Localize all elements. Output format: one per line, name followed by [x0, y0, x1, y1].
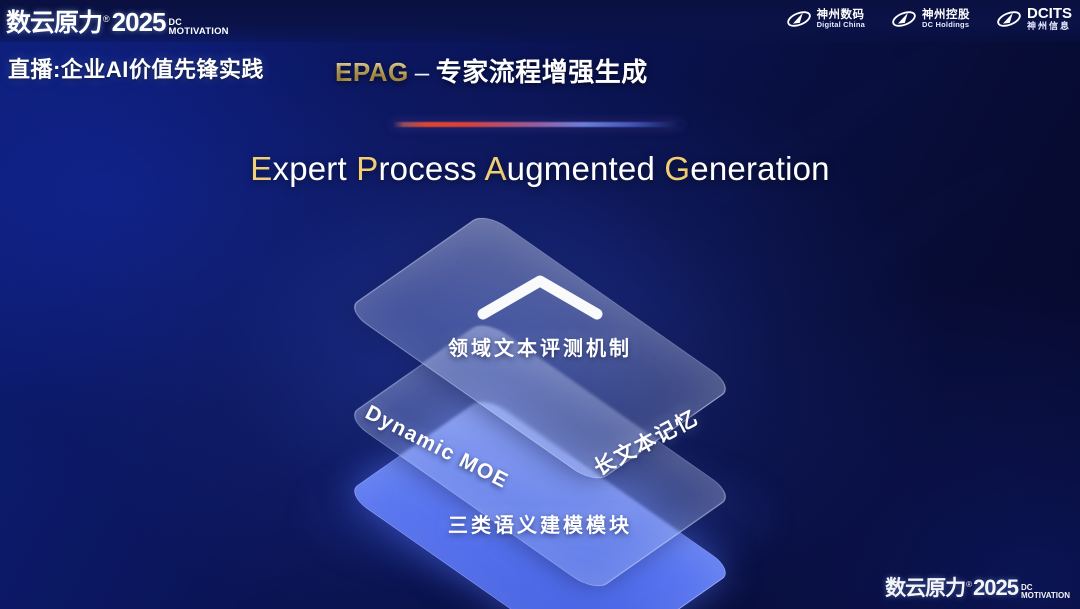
word-expert: Expert [250, 150, 347, 187]
initial-letter: G [664, 150, 690, 187]
watermark-name-cn: 数云原力 [885, 572, 965, 602]
word-rest: xpert [273, 150, 347, 187]
word-rest: eneration [690, 150, 829, 187]
brand-motivation-text: MOTIVATION [169, 27, 229, 36]
registered-mark: ® [966, 580, 972, 589]
gradient-divider [392, 122, 682, 127]
initial-letter: E [250, 150, 272, 187]
word-rest: ugmented [507, 150, 655, 187]
logo-name-en: DCITS [1027, 6, 1072, 22]
logo-digital-china: 神州数码 Digital China [786, 8, 865, 30]
logo-text: 神州控股 DC Holdings [922, 9, 970, 29]
watermark-motivation-text: MOTIVATION [1021, 592, 1070, 600]
galaxy-swirl-icon [891, 8, 917, 30]
logo-text: 神州数码 Digital China [817, 9, 865, 29]
initial-letter: P [356, 150, 378, 187]
brand-name-cn: 数云原力 [6, 3, 102, 39]
logo-text: DCITS 神州信息 [1027, 6, 1072, 31]
live-stream-title: 直播:企业AI价值先锋实践 [8, 52, 264, 84]
logo-dcits: DCITS 神州信息 [996, 6, 1072, 31]
english-title: Expert Process Augmented Generation [0, 150, 1080, 188]
stack-label-bottom: 三类语义建模模块 [0, 509, 1080, 538]
header-bar: 数云原力 ® 2025 DC MOTIVATION 神州数码 Digital C… [0, 0, 1080, 42]
brand-dc-motivation: DC MOTIVATION [169, 18, 229, 36]
brand-watermark-bottom-right: 数云原力 ® 2025 DC MOTIVATION [885, 572, 1070, 605]
word-generation: Generation [664, 150, 829, 187]
word-process: Process [356, 150, 477, 187]
word-rest: rocess [378, 150, 476, 187]
partner-logos: 神州数码 Digital China 神州控股 DC Holdings [786, 6, 1072, 31]
logo-name-cn: 神州信息 [1027, 22, 1072, 31]
slide-canvas: 数云原力 ® 2025 DC MOTIVATION 神州数码 Digital C… [0, 0, 1080, 609]
brand-logo-top-left: 数云原力 ® 2025 DC MOTIVATION [6, 3, 229, 42]
logo-name-en: Digital China [817, 21, 865, 29]
logo-dc-holdings: 神州控股 DC Holdings [891, 8, 970, 30]
logo-name-cn: 神州控股 [922, 9, 970, 21]
initial-letter: A [484, 150, 506, 187]
logo-name-en: DC Holdings [922, 21, 970, 29]
headline-chinese: 专家流程增强生成 [436, 57, 648, 87]
headline-dash: – [415, 57, 430, 87]
registered-mark: ® [103, 14, 110, 24]
watermark-year: 2025 [973, 575, 1018, 601]
chevron-up-icon [475, 272, 605, 327]
galaxy-swirl-icon [786, 8, 812, 30]
slide-headline: EPAG–专家流程增强生成 [335, 52, 648, 89]
word-augmented: Augmented [484, 150, 655, 187]
galaxy-swirl-icon [996, 8, 1022, 30]
stack-label-top: 领域文本评测机制 [0, 332, 1080, 361]
headline-acronym: EPAG [335, 57, 409, 87]
watermark-dc-motivation: DC MOTIVATION [1021, 584, 1070, 600]
brand-year: 2025 [112, 7, 166, 38]
logo-name-cn: 神州数码 [817, 9, 865, 21]
